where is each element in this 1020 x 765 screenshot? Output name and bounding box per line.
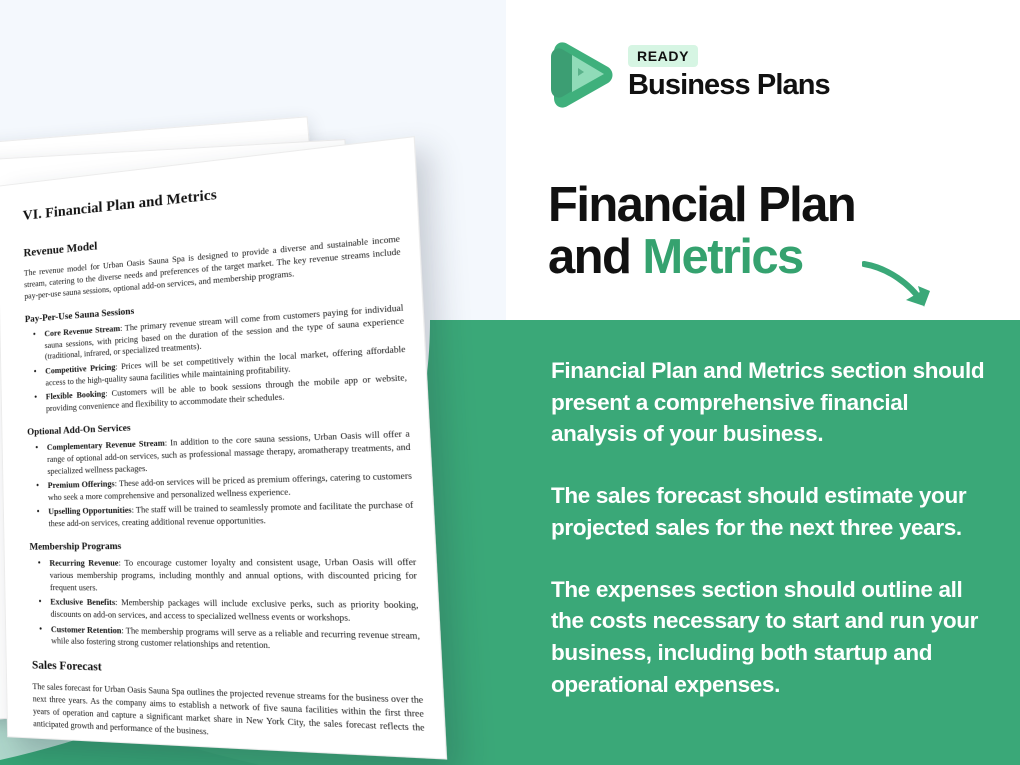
bullet-term: Premium Offerings	[48, 479, 115, 490]
bullet-term: Complementary Revenue Stream	[47, 438, 165, 452]
brand-name: Business Plans	[628, 70, 830, 100]
headline-line-2-prefix: and	[548, 230, 642, 284]
document-content: VI. Financial Plan and Metrics Revenue M…	[23, 167, 427, 760]
headline-line-1: Financial Plan	[548, 178, 855, 232]
headline-line-2-accent: Metrics	[642, 230, 802, 284]
curved-arrow-down-right-icon	[862, 258, 972, 320]
document-bullet-list: Complementary Revenue Stream: In additio…	[27, 428, 414, 531]
sales-forecast-paragraph: The sales forecast for Urban Oasis Sauna…	[32, 681, 425, 749]
document-section-heading: Membership Programs	[29, 539, 415, 553]
bullet-term: Core Revenue Stream	[44, 324, 120, 338]
brand-logo[interactable]: READY Business Plans	[548, 36, 830, 110]
panel-body-copy: Financial Plan and Metrics section shoul…	[551, 355, 996, 700]
panel-paragraph: Financial Plan and Metrics section shoul…	[551, 355, 996, 450]
panel-paragraph: The expenses section should outline all …	[551, 574, 996, 701]
document-page-front[interactable]: VI. Financial Plan and Metrics Revenue M…	[0, 136, 447, 760]
document-bullet-list: Recurring Revenue: To encourage customer…	[30, 556, 421, 656]
bullet-term: Competitive Pricing	[45, 362, 115, 375]
ready-badge: READY	[628, 45, 698, 67]
panel-paragraph: The sales forecast should estimate your …	[551, 480, 996, 543]
brand-wordmark: READY Business Plans	[628, 45, 830, 101]
bullet-term: Recurring Revenue	[49, 559, 118, 568]
bullet-term: Upselling Opportunities	[48, 506, 132, 517]
document-bullet-item: Exclusive Benefits: Membership packages …	[31, 596, 420, 626]
bullet-term: Exclusive Benefits	[50, 598, 115, 608]
slide-canvas: V V Re Th inc stre Pay Op M VI. Financia…	[0, 0, 1020, 765]
play-triangle-logo-icon	[548, 36, 614, 110]
document-sections: Pay-Per-Use Sauna SessionsCore Revenue S…	[25, 285, 421, 656]
bullet-term: Customer Retention	[51, 624, 122, 635]
document-bullet-item: Recurring Revenue: To encourage customer…	[30, 556, 418, 596]
document-bullet-item: Customer Retention: The membership progr…	[31, 623, 421, 656]
document-stack: V V Re Th inc stre Pay Op M VI. Financia…	[0, 140, 424, 740]
sales-forecast-heading: Sales Forecast	[32, 660, 422, 684]
bullet-term: Flexible Booking	[46, 389, 106, 401]
document-bullet-item: Upselling Opportunities: The staff will …	[29, 499, 415, 530]
